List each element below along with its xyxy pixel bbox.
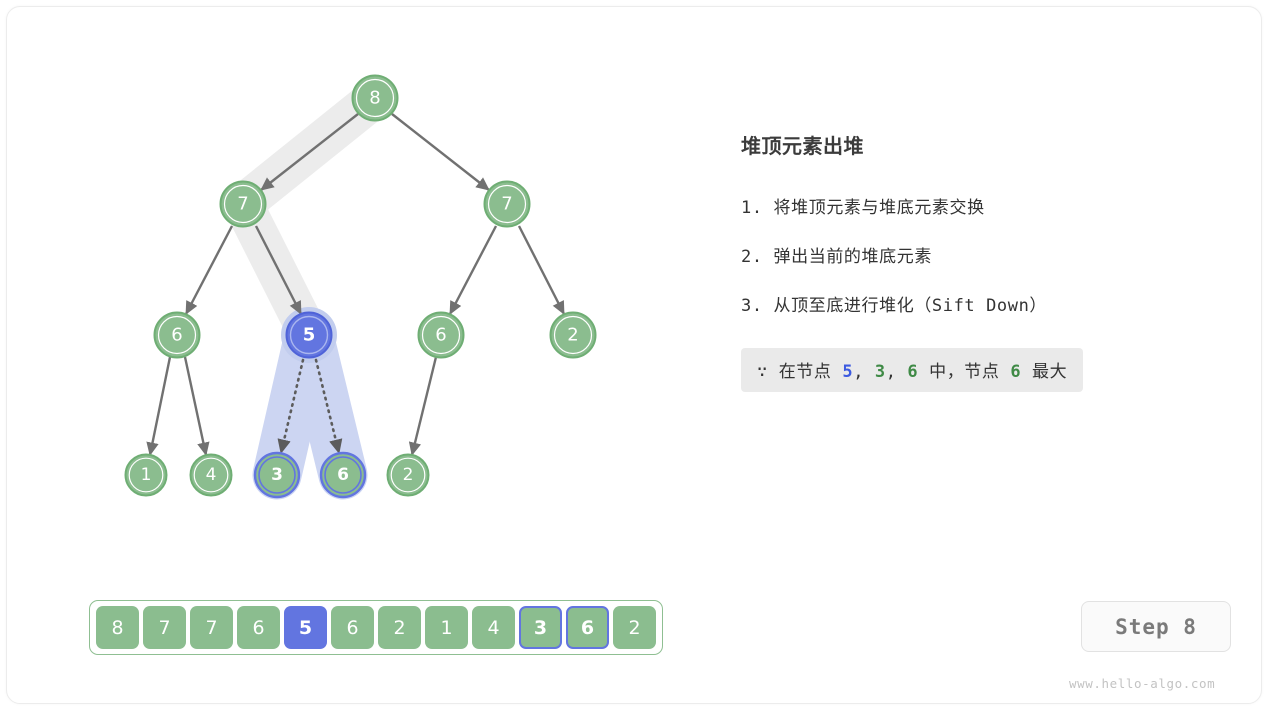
array-cell-8[interactable]: 4 [472, 606, 515, 649]
array-cell-9[interactable]: 3 [519, 606, 562, 649]
step-number: 1. [741, 198, 763, 218]
tree-edges [150, 114, 564, 455]
node-label: 2 [567, 325, 578, 346]
node-label: 8 [369, 88, 380, 109]
node-label: 5 [303, 325, 316, 346]
tree-node-n6[interactable]: 2 [551, 313, 596, 358]
edge-n5-n11 [412, 357, 436, 455]
array-cell-10[interactable]: 6 [566, 606, 609, 649]
edge-n2-n6 [519, 226, 564, 314]
step-number: 3. [741, 296, 763, 316]
step-text: 弹出当前的堆底元素 [774, 247, 932, 267]
tree-node-n8[interactable]: 4 [191, 455, 232, 496]
conclusion-suffix: 最大 [1032, 362, 1067, 382]
sep-1: , [853, 362, 864, 382]
node-label: 6 [171, 325, 182, 346]
tree-node-n3[interactable]: 6 [155, 313, 200, 358]
array-cell-1[interactable]: 7 [143, 606, 186, 649]
tree-nodes: 8 7 7 6 5 [126, 76, 596, 498]
tree-node-n9[interactable]: 3 [255, 453, 299, 497]
tree-node-n2[interactable]: 7 [485, 182, 530, 227]
array-cell-6[interactable]: 2 [378, 606, 421, 649]
tree-node-n10[interactable]: 6 [321, 453, 365, 497]
binary-tree-diagram: 8 7 7 6 5 [0, 0, 700, 560]
array-cell-4[interactable]: 5 [284, 606, 327, 649]
edge-n2-n5 [450, 226, 496, 314]
step-text: 将堆顶元素与堆底元素交换 [774, 198, 985, 218]
step-item-2: 2. 弹出当前的堆底元素 [741, 242, 1221, 267]
step-number: 2. [741, 247, 763, 267]
tree-node-n4[interactable]: 5 [287, 313, 332, 358]
node-label: 6 [337, 465, 349, 485]
tree-node-n11[interactable]: 2 [388, 455, 429, 496]
array-cell-2[interactable]: 7 [190, 606, 233, 649]
watermark: www.hello-algo.com [1069, 676, 1215, 691]
step-badge: Step 8 [1081, 601, 1231, 652]
edge-n1-n3 [186, 226, 232, 314]
node-label: 4 [206, 465, 217, 485]
tree-node-n0[interactable]: 8 [353, 76, 398, 121]
node-label: 3 [271, 465, 283, 485]
array-cell-7[interactable]: 1 [425, 606, 468, 649]
conclusion-max-value: 6 [1010, 362, 1021, 382]
node-label: 6 [435, 325, 446, 346]
conclusion-middle: 中，节点 [929, 362, 999, 382]
step-item-3: 3. 从顶至底进行堆化（Sift Down） [741, 291, 1221, 316]
edge-n0-n2 [392, 114, 489, 190]
conclusion-prefix: 在节点 [779, 362, 832, 382]
sep-2: , [886, 362, 897, 382]
node-label: 7 [501, 194, 512, 215]
explanation-panel: 堆顶元素出堆 1. 将堆顶元素与堆底元素交换 2. 弹出当前的堆底元素 3. 从… [741, 130, 1221, 392]
step-text: 从顶至底进行堆化（Sift Down） [774, 296, 1048, 316]
array-cell-5[interactable]: 6 [331, 606, 374, 649]
tree-node-n5[interactable]: 6 [419, 313, 464, 358]
heap-array: 8 7 7 6 5 6 2 1 4 3 6 2 [89, 600, 663, 655]
array-cell-3[interactable]: 6 [237, 606, 280, 649]
edge-n3-n8 [185, 357, 206, 455]
diagram-canvas: 8 7 7 6 5 [0, 0, 1280, 720]
step-item-1: 1. 将堆顶元素与堆底元素交换 [741, 193, 1221, 218]
tree-node-n7[interactable]: 1 [126, 455, 167, 496]
node-label: 7 [237, 194, 248, 215]
conclusion-value-2: 3 [875, 362, 886, 382]
array-cell-11[interactable]: 2 [613, 606, 656, 649]
because-symbol: ∵ [757, 362, 768, 382]
tree-node-n1[interactable]: 7 [221, 182, 266, 227]
edge-n3-n7 [150, 357, 170, 455]
page-title: 堆顶元素出堆 [741, 130, 1221, 159]
node-label: 1 [141, 465, 152, 485]
conclusion-value-1: 5 [842, 362, 853, 382]
conclusion-value-3: 6 [907, 362, 918, 382]
node-label: 2 [403, 465, 414, 485]
array-cell-0[interactable]: 8 [96, 606, 139, 649]
conclusion-box: ∵ 在节点 5, 3, 6 中，节点 6 最大 [741, 348, 1083, 392]
